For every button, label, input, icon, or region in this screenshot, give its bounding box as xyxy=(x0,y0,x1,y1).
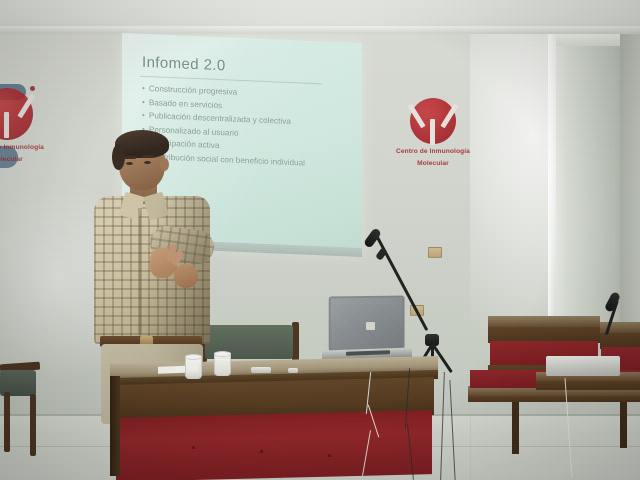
wall-logo-right: Centro de Inmunología Molecular xyxy=(396,98,470,168)
wall-logo-left: Centro de Inmunología Molecular xyxy=(0,88,44,164)
floor-tile-line xyxy=(470,414,471,480)
chair-leg-left xyxy=(4,392,10,452)
cup-right[interactable] xyxy=(214,352,231,376)
wall-outlet[interactable] xyxy=(428,247,442,258)
podium-panel-tuft xyxy=(260,450,263,453)
laptop-logo-badge xyxy=(366,322,375,330)
column-edge xyxy=(620,34,640,364)
antibody-logo-icon xyxy=(410,98,456,144)
podium-panel xyxy=(116,410,432,480)
remote-clicker[interactable] xyxy=(251,367,271,373)
chair-frame-right xyxy=(292,322,299,362)
podium-panel-tuft xyxy=(328,454,331,457)
small-device[interactable] xyxy=(288,368,298,373)
presenter-brow xyxy=(142,155,154,158)
laptop[interactable] xyxy=(322,296,412,366)
presenter-eye xyxy=(126,162,133,165)
cup-left[interactable] xyxy=(185,355,202,379)
logo-text-line2: Molecular xyxy=(0,155,44,164)
desk-leg xyxy=(620,396,627,448)
logo-text-line1: Centro de Inmunología xyxy=(396,147,470,156)
desk-front xyxy=(536,381,640,390)
logo-text-line2: Molecular xyxy=(396,159,470,168)
logo-text-line1: Centro de Inmunología xyxy=(0,143,44,152)
podium-panel-tuft xyxy=(192,446,195,449)
slide-title: Infomed 2.0 xyxy=(142,54,226,75)
laptop-lid xyxy=(329,296,405,353)
chair-leg-left-2 xyxy=(30,394,36,456)
monitor-right xyxy=(546,356,620,376)
presentation-photo: Infomed 2.0 Construcción progresiva Basa… xyxy=(0,0,640,480)
presenter-brow xyxy=(124,156,136,159)
presenter-ear xyxy=(160,158,169,171)
logo-y-stem xyxy=(4,112,9,138)
desk-leg xyxy=(512,396,519,454)
logo-y-stem xyxy=(430,119,435,145)
antibody-logo-icon xyxy=(0,88,33,140)
desk-rail xyxy=(468,396,640,402)
podium-side xyxy=(110,376,120,476)
presenter-hand-lower xyxy=(174,264,198,288)
podium-table xyxy=(110,360,438,480)
presenter-eye xyxy=(144,161,151,164)
column-top xyxy=(556,34,622,46)
